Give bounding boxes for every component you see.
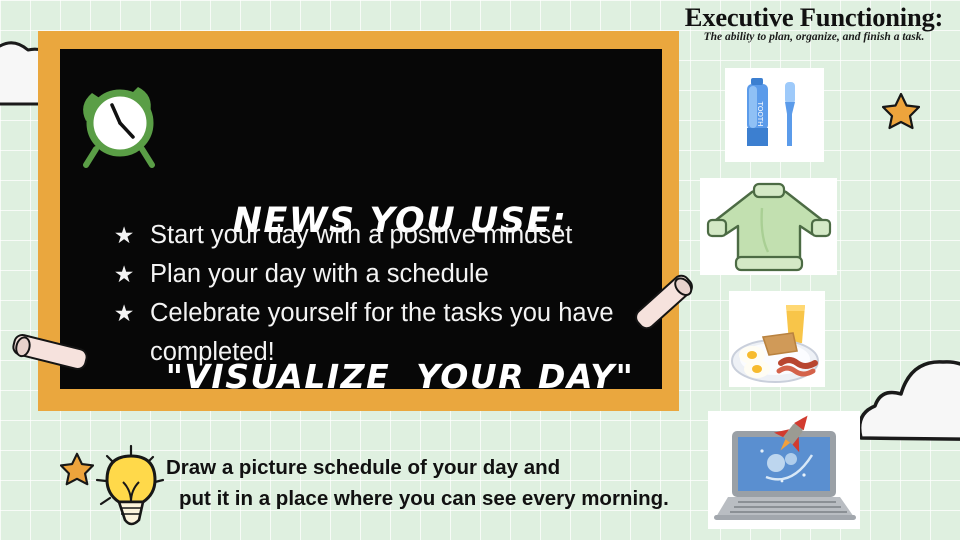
lightbulb-icon: [93, 444, 169, 530]
chalkboard-frame: News You Use: "Visualize Your Day" ★ Sta…: [38, 31, 679, 411]
toothpaste-and-toothbrush-image: TOOTH: [725, 68, 824, 162]
bullet-item: ★ Plan your day with a schedule: [98, 255, 662, 294]
caption-line2: put it in a place where you can see ever…: [166, 483, 706, 514]
star-bullet-icon: ★: [98, 294, 150, 333]
bullet-item: ★ Celebrate yourself for the tasks you h…: [98, 294, 662, 372]
bullet-text: Celebrate yourself for the tasks you hav…: [150, 294, 662, 372]
star-decoration-right: [882, 92, 920, 130]
chalk-end-cap: [13, 335, 33, 359]
breakfast-plate-image: [729, 291, 825, 387]
slide-canvas: News You Use: "Visualize Your Day" ★ Sta…: [0, 0, 960, 540]
green-sweater-image: [700, 178, 837, 275]
svg-text:TOOTH: TOOTH: [756, 101, 764, 127]
bottom-caption: Draw a picture schedule of your day and …: [166, 452, 706, 514]
caption-line1: Draw a picture schedule of your day and: [166, 452, 706, 483]
bullet-text: Plan your day with a schedule: [150, 255, 662, 294]
page-title: Executive Functioning:: [668, 2, 960, 33]
cloud-right-icon: [853, 340, 960, 450]
page-subtitle: The ability to plan, organize, and finis…: [668, 31, 960, 43]
star-bullet-icon: ★: [98, 255, 150, 294]
chalkboard-surface: News You Use: "Visualize Your Day" ★ Sta…: [60, 49, 662, 389]
star-bullet-icon: ★: [98, 216, 150, 255]
chalk-end-cap: [670, 274, 695, 300]
board-bullet-list: ★ Start your day with a positive mindset…: [98, 216, 662, 372]
bullet-text: Start your day with a positive mindset: [150, 216, 662, 255]
star-decoration-bulb: [60, 452, 94, 486]
laptop-rocket-image: [708, 411, 860, 529]
bullet-item: ★ Start your day with a positive mindset: [98, 216, 662, 255]
